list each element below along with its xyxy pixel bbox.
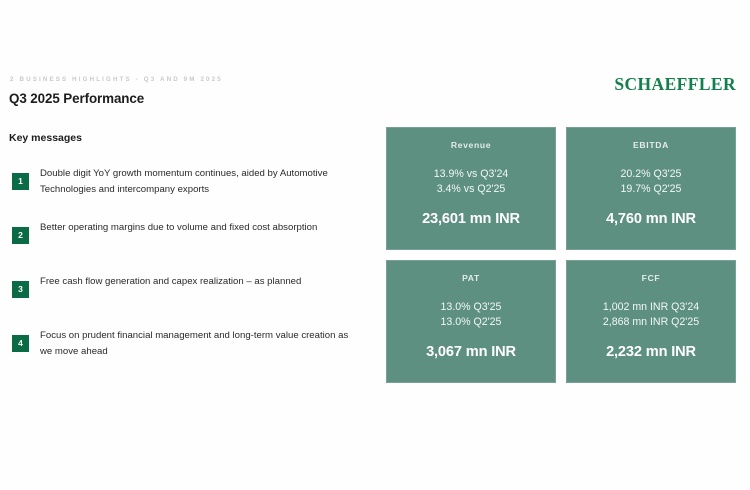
kpi-card-title: FCF bbox=[642, 273, 661, 283]
kpi-card-subline-2: 2,868 mn INR Q2'25 bbox=[603, 315, 699, 330]
kpi-card-value: 4,760 mn INR bbox=[606, 211, 696, 227]
list-item-text: Free cash flow generation and capex real… bbox=[40, 274, 372, 290]
kpi-card-title: Revenue bbox=[451, 140, 491, 150]
kpi-card-value: 2,232 mn INR bbox=[606, 344, 696, 360]
kpi-card-title: PAT bbox=[462, 273, 480, 283]
page-title: Q3 2025 Performance bbox=[9, 91, 144, 106]
list-item-text: Double digit YoY growth momentum continu… bbox=[40, 166, 372, 197]
kpi-card-subline-2: 19.7% Q2'25 bbox=[621, 182, 682, 197]
kpi-card-subline-1: 13.0% Q3'25 bbox=[441, 300, 502, 315]
kpi-card-subline-1: 13.9% vs Q3'24 bbox=[434, 167, 508, 182]
kpi-card-fcf: FCF 1,002 mn INR Q3'24 2,868 mn INR Q2'2… bbox=[566, 260, 736, 383]
number-badge-4: 4 bbox=[12, 335, 29, 352]
kpi-card-ebitda: EBITDA 20.2% Q3'25 19.7% Q2'25 4,760 mn … bbox=[566, 127, 736, 250]
schaeffler-logo: SCHAEFFLER bbox=[614, 74, 736, 95]
kpi-card-pat: PAT 13.0% Q3'25 13.0% Q2'25 3,067 mn INR bbox=[386, 260, 556, 383]
breadcrumb-eyebrow: 2 BUSINESS HIGHLIGHTS - Q3 AND 9M 2025 bbox=[10, 76, 223, 83]
list-item-text: Focus on prudent financial management an… bbox=[40, 328, 372, 359]
kpi-card-grid: Revenue 13.9% vs Q3'24 3.4% vs Q2'25 23,… bbox=[386, 127, 736, 383]
slide-canvas: 2 BUSINESS HIGHLIGHTS - Q3 AND 9M 2025 Q… bbox=[0, 0, 750, 490]
kpi-card-revenue: Revenue 13.9% vs Q3'24 3.4% vs Q2'25 23,… bbox=[386, 127, 556, 250]
number-badge-2: 2 bbox=[12, 227, 29, 244]
list-item: 2 Better operating margins due to volume… bbox=[0, 220, 372, 264]
kpi-card-subline-2: 3.4% vs Q2'25 bbox=[437, 182, 506, 197]
kpi-card-value: 3,067 mn INR bbox=[426, 344, 516, 360]
kpi-card-value: 23,601 mn INR bbox=[422, 211, 520, 227]
key-messages-heading: Key messages bbox=[9, 132, 82, 144]
kpi-card-subline-2: 13.0% Q2'25 bbox=[441, 315, 502, 330]
list-item: 1 Double digit YoY growth momentum conti… bbox=[0, 166, 372, 210]
number-badge-3: 3 bbox=[12, 281, 29, 298]
kpi-card-subline-1: 1,002 mn INR Q3'24 bbox=[603, 300, 699, 315]
kpi-card-subline-1: 20.2% Q3'25 bbox=[621, 167, 682, 182]
list-item: 3 Free cash flow generation and capex re… bbox=[0, 274, 372, 318]
kpi-card-title: EBITDA bbox=[633, 140, 669, 150]
number-badge-1: 1 bbox=[12, 173, 29, 190]
list-item-text: Better operating margins due to volume a… bbox=[40, 220, 372, 236]
list-item: 4 Focus on prudent financial management … bbox=[0, 328, 372, 372]
key-messages-list: 1 Double digit YoY growth momentum conti… bbox=[0, 166, 372, 382]
